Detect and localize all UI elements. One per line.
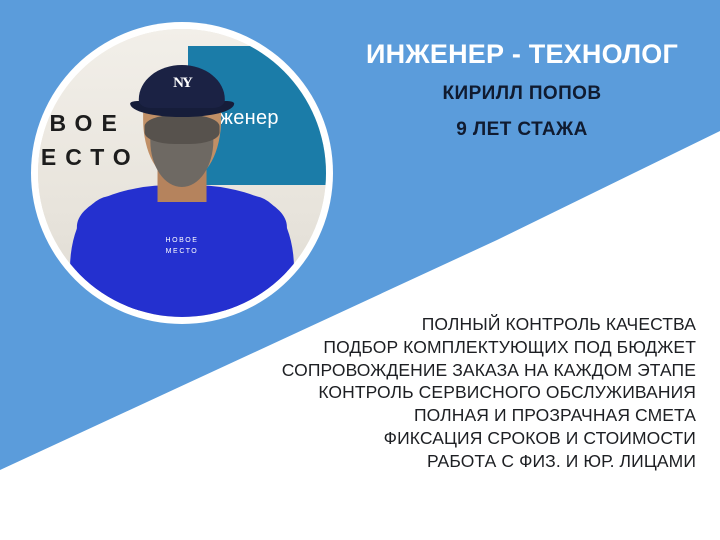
- avito-watermark: Avito: [639, 512, 708, 532]
- benefits-list: ПОЛНЫЙ КОНТРОЛЬ КАЧЕСТВА ПОДБОР КОМПЛЕКТ…: [276, 313, 696, 472]
- list-item: РАБОТА С ФИЗ. И ЮР. ЛИЦАМИ: [276, 450, 696, 473]
- portrait-image: Инженер ВОЕ ЕСТО NY НОВОЕ: [38, 29, 326, 317]
- experience-years: 9 ЛЕТ СТАЖА: [352, 119, 692, 141]
- list-item: КОНТРОЛЬ СЕРВИСНОГО ОБСЛУЖИВАНИЯ: [276, 381, 696, 404]
- header: ИНЖЕНЕР - ТЕХНОЛОГ КИРИЛЛ ПОПОВ 9 ЛЕТ СТ…: [352, 40, 692, 141]
- page-title: ИНЖЕНЕР - ТЕХНОЛОГ: [352, 40, 692, 68]
- list-item: ПОЛНЫЙ КОНТРОЛЬ КАЧЕСТВА: [276, 313, 696, 336]
- promo-card: Инженер ВОЕ ЕСТО NY НОВОЕ: [0, 0, 720, 540]
- shirt-logo-line-1: НОВОЕ: [165, 236, 198, 246]
- person-name: КИРИЛЛ ПОПОВ: [352, 83, 692, 105]
- list-item: ФИКСАЦИЯ СРОКОВ И СТОИМОСТИ: [276, 427, 696, 450]
- moustache: [145, 115, 220, 144]
- avito-dots-icon: [639, 513, 658, 532]
- avito-wordmark: Avito: [661, 512, 708, 532]
- portrait-photo: Инженер ВОЕ ЕСТО NY НОВОЕ: [31, 22, 333, 324]
- cap-logo: NY: [173, 75, 191, 92]
- shirt-logo-line-2: МЕСТО: [165, 247, 198, 257]
- list-item: СОПРОВОЖДЕНИЕ ЗАКАЗА НА КАЖДОМ ЭТАПЕ: [276, 359, 696, 382]
- list-item: ПОДБОР КОМПЛЕКТУЮЩИХ ПОД БЮДЖЕТ: [276, 336, 696, 359]
- person-figure: NY НОВОЕ МЕСТО: [38, 29, 326, 317]
- list-item: ПОЛНАЯ И ПРОЗРАЧНАЯ СМЕТА: [276, 404, 696, 427]
- shirt-logo: НОВОЕ МЕСТО: [165, 236, 198, 256]
